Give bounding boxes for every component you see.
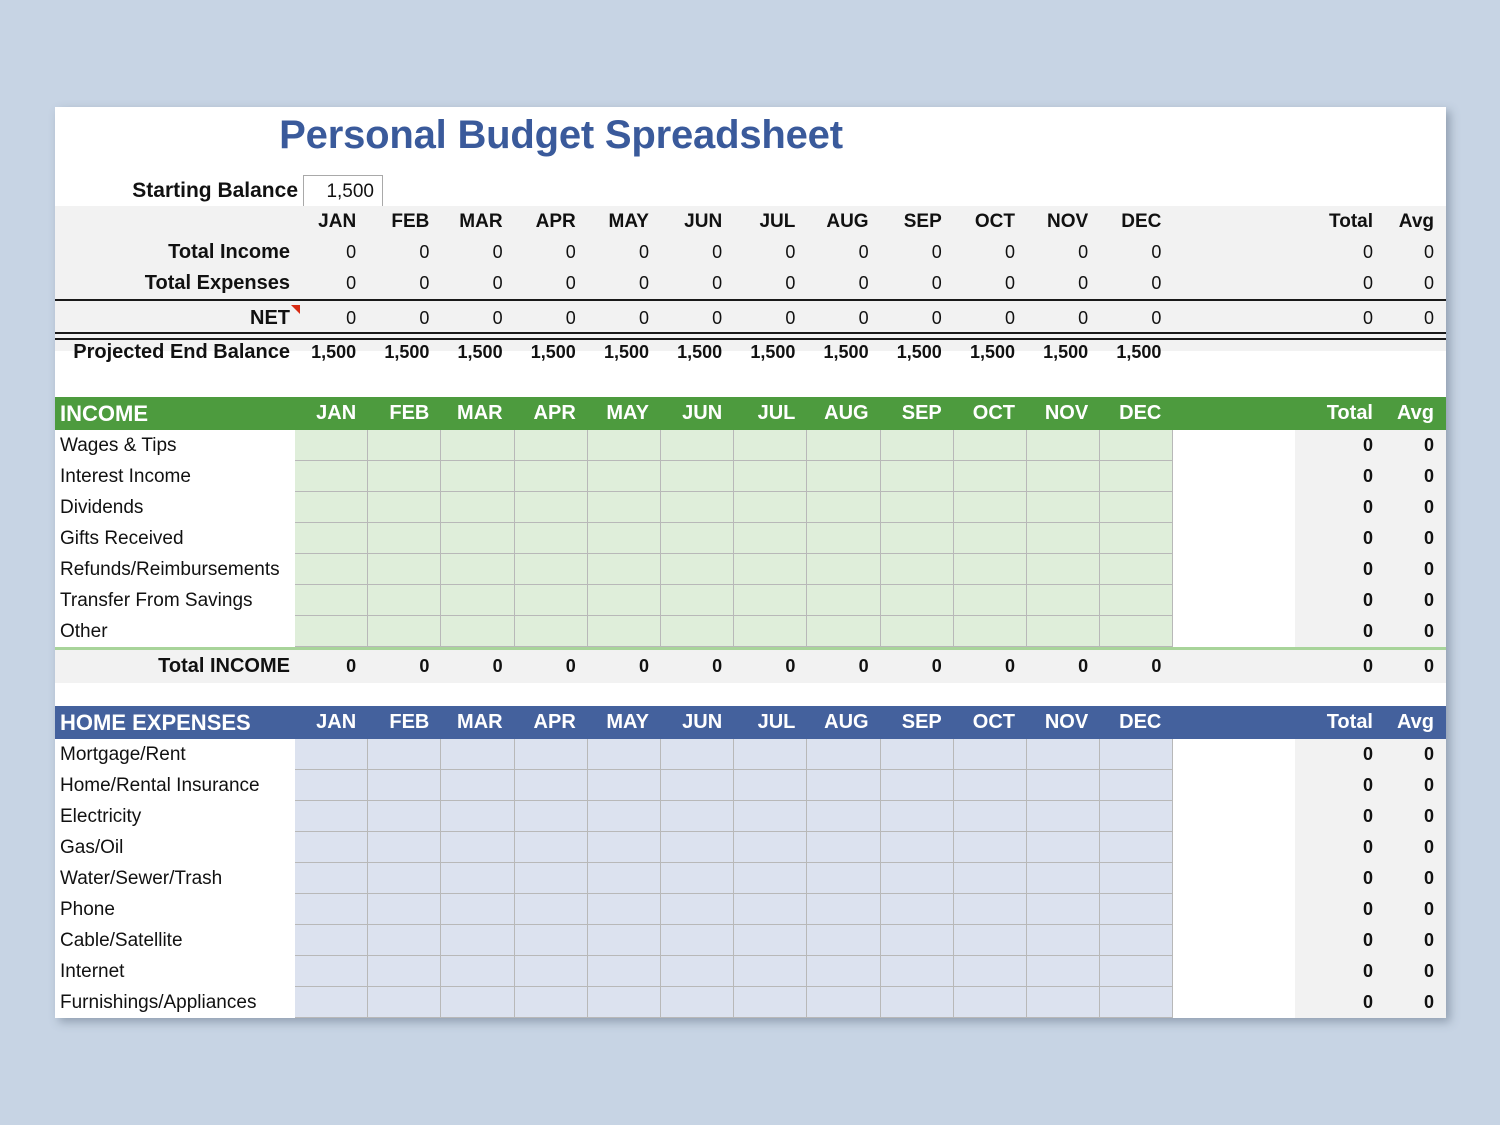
entry-cell-apr[interactable] (515, 523, 588, 554)
starting-balance-input[interactable]: 1,500 (303, 175, 383, 207)
row-label: Gifts Received (55, 523, 295, 554)
entry-cell-sep[interactable] (881, 585, 954, 616)
section-col-header-dec: DEC (1100, 397, 1173, 430)
entry-cell-oct[interactable] (954, 492, 1027, 523)
entry-cell-sep[interactable] (881, 801, 954, 832)
entry-cell-jan[interactable] (295, 523, 368, 554)
entry-cell-oct[interactable] (954, 616, 1027, 647)
entry-cell-jan[interactable] (295, 832, 368, 863)
entry-cell-jul[interactable] (734, 492, 807, 523)
entry-cell-may[interactable] (588, 585, 661, 616)
entry-cell-nov[interactable] (1027, 554, 1100, 585)
row-avg: 0 (1385, 770, 1446, 801)
row-total: 0 (1295, 430, 1385, 461)
entry-cell-aug[interactable] (807, 832, 880, 863)
entry-cell-oct[interactable] (954, 585, 1027, 616)
entry-cell-jun[interactable] (661, 523, 734, 554)
entry-cell-jan[interactable] (295, 956, 368, 987)
entry-cell-may[interactable] (588, 523, 661, 554)
entry-cell-dec[interactable] (1100, 801, 1173, 832)
summary-cell: 0 (515, 268, 588, 299)
entry-cell-jul[interactable] (734, 801, 807, 832)
table-row: Interest Income00 (55, 461, 1446, 492)
table-row: Electricity00 (55, 801, 1446, 832)
summary-col-header-jun: JUN (661, 206, 734, 237)
entry-cell-aug[interactable] (807, 956, 880, 987)
entry-cell-aug[interactable] (807, 585, 880, 616)
entry-cell-jan[interactable] (295, 925, 368, 956)
entry-cell-mar[interactable] (441, 492, 514, 523)
row-label: Transfer From Savings (55, 585, 295, 616)
section-col-header-jun: JUN (661, 706, 734, 739)
entry-cell-may[interactable] (588, 863, 661, 894)
entry-cell-jul[interactable] (734, 430, 807, 461)
section-total-cell: 0 (368, 650, 441, 683)
entry-cell-mar[interactable] (441, 832, 514, 863)
entry-cell-oct[interactable] (954, 770, 1027, 801)
table-row: Refunds/Reimbursements00 (55, 554, 1446, 585)
summary-cell: 0 (588, 268, 661, 299)
section-total-cell-avg: 0 (1385, 650, 1446, 683)
row-total: 0 (1295, 956, 1385, 987)
entry-cell-apr[interactable] (515, 801, 588, 832)
entry-cell-dec[interactable] (1100, 987, 1173, 1018)
entry-cell-mar[interactable] (441, 554, 514, 585)
entry-cell-jun[interactable] (661, 430, 734, 461)
section-col-header-total: Total (1295, 706, 1385, 739)
section-col-header-jul: JUL (734, 706, 807, 739)
entry-cell-oct[interactable] (954, 925, 1027, 956)
entry-cell-feb[interactable] (368, 863, 441, 894)
summary-col-header-jul: JUL (734, 206, 807, 237)
summary-band: JANFEBMARAPRMAYJUNJULAUGSEPOCTNOVDECTota… (55, 206, 1446, 351)
entry-cell-mar[interactable] (441, 863, 514, 894)
entry-cell-feb[interactable] (368, 554, 441, 585)
entry-cell-dec[interactable] (1100, 925, 1173, 956)
entry-cell-mar[interactable] (441, 956, 514, 987)
entry-cell-dec[interactable] (1100, 832, 1173, 863)
entry-cell-aug[interactable] (807, 987, 880, 1018)
starting-balance-value: 1,500 (326, 181, 374, 203)
entry-cell-aug[interactable] (807, 430, 880, 461)
row-avg: 0 (1385, 987, 1446, 1018)
entry-cell-oct[interactable] (954, 739, 1027, 770)
entry-cell-jun[interactable] (661, 863, 734, 894)
row-total: 0 (1295, 894, 1385, 925)
entry-cell-feb[interactable] (368, 492, 441, 523)
entry-cell-mar[interactable] (441, 925, 514, 956)
entry-cell-nov[interactable] (1027, 739, 1100, 770)
row-total: 0 (1295, 523, 1385, 554)
entry-cell-feb[interactable] (368, 832, 441, 863)
entry-cell-dec[interactable] (1100, 523, 1173, 554)
entry-cell-may[interactable] (588, 956, 661, 987)
summary-cell: 0 (954, 237, 1027, 268)
entry-cell-sep[interactable] (881, 739, 954, 770)
entry-cell-jul[interactable] (734, 925, 807, 956)
section-total-cell: 0 (734, 650, 807, 683)
table-row: Dividends00 (55, 492, 1446, 523)
entry-cell-mar[interactable] (441, 894, 514, 925)
entry-cell-jan[interactable] (295, 770, 368, 801)
summary-cell: 0 (295, 237, 368, 268)
entry-cell-jun[interactable] (661, 987, 734, 1018)
entry-cell-sep[interactable] (881, 430, 954, 461)
entry-cell-nov[interactable] (1027, 956, 1100, 987)
entry-cell-oct[interactable] (954, 956, 1027, 987)
entry-cell-mar[interactable] (441, 616, 514, 647)
entry-cell-jul[interactable] (734, 585, 807, 616)
entry-cell-feb[interactable] (368, 430, 441, 461)
entry-cell-jul[interactable] (734, 523, 807, 554)
entry-cell-jul[interactable] (734, 956, 807, 987)
entry-cell-aug[interactable] (807, 801, 880, 832)
entry-cell-jan[interactable] (295, 894, 368, 925)
entry-cell-jan[interactable] (295, 863, 368, 894)
entry-cell-oct[interactable] (954, 801, 1027, 832)
summary-cell: 0 (515, 237, 588, 268)
section-col-header-jan: JAN (295, 397, 368, 430)
summary-cell: 0 (1027, 268, 1100, 299)
entry-cell-jun[interactable] (661, 461, 734, 492)
entry-cell-nov[interactable] (1027, 925, 1100, 956)
entry-cell-may[interactable] (588, 461, 661, 492)
section-col-header-aug: AUG (807, 397, 880, 430)
entry-cell-jun[interactable] (661, 616, 734, 647)
entry-cell-dec[interactable] (1100, 492, 1173, 523)
entry-cell-jun[interactable] (661, 801, 734, 832)
summary-row-total-expenses: Total Expenses00000000000000 (55, 268, 1446, 299)
entry-cell-feb[interactable] (368, 585, 441, 616)
entry-cell-mar[interactable] (441, 987, 514, 1018)
entry-cell-apr[interactable] (515, 832, 588, 863)
entry-cell-oct[interactable] (954, 523, 1027, 554)
section-total-cell: 0 (1100, 650, 1173, 683)
entry-cell-aug[interactable] (807, 616, 880, 647)
summary-col-header-total: Total (1295, 206, 1385, 237)
entry-cell-nov[interactable] (1027, 832, 1100, 863)
entry-cell-dec[interactable] (1100, 894, 1173, 925)
entry-cell-nov[interactable] (1027, 863, 1100, 894)
entry-cell-may[interactable] (588, 770, 661, 801)
entry-cell-nov[interactable] (1027, 616, 1100, 647)
row-avg: 0 (1385, 461, 1446, 492)
summary-cell: 0 (661, 237, 734, 268)
row-avg: 0 (1385, 585, 1446, 616)
entry-cell-jul[interactable] (734, 461, 807, 492)
entry-cell-feb[interactable] (368, 894, 441, 925)
entry-cell-sep[interactable] (881, 554, 954, 585)
section-col-header-aug: AUG (807, 706, 880, 739)
entry-cell-jun[interactable] (661, 925, 734, 956)
summary-cell-avg (1385, 337, 1446, 368)
section-col-header-feb: FEB (368, 397, 441, 430)
entry-cell-jan[interactable] (295, 801, 368, 832)
entry-cell-apr[interactable] (515, 616, 588, 647)
entry-cell-sep[interactable] (881, 925, 954, 956)
entry-cell-feb[interactable] (368, 801, 441, 832)
entry-cell-jul[interactable] (734, 863, 807, 894)
entry-cell-dec[interactable] (1100, 585, 1173, 616)
entry-cell-nov[interactable] (1027, 585, 1100, 616)
section-header-home-expenses: HOME EXPENSESJANFEBMARAPRMAYJUNJULAUGSEP… (55, 706, 1446, 739)
entry-cell-aug[interactable] (807, 770, 880, 801)
entry-cell-apr[interactable] (515, 894, 588, 925)
row-label: Water/Sewer/Trash (55, 863, 295, 894)
section-total-cell: 0 (954, 650, 1027, 683)
entry-cell-feb[interactable] (368, 461, 441, 492)
entry-cell-dec[interactable] (1100, 863, 1173, 894)
entry-cell-may[interactable] (588, 739, 661, 770)
section-col-header-mar: MAR (441, 397, 514, 430)
row-label: Home/Rental Insurance (55, 770, 295, 801)
entry-cell-oct[interactable] (954, 894, 1027, 925)
entry-cell-apr[interactable] (515, 461, 588, 492)
section-col-header-jun: JUN (661, 397, 734, 430)
summary-cell: 0 (1100, 268, 1173, 299)
entry-cell-jan[interactable] (295, 739, 368, 770)
summary-cell: 0 (661, 303, 734, 334)
entry-cell-apr[interactable] (515, 739, 588, 770)
row-total: 0 (1295, 801, 1385, 832)
summary-cell: 0 (734, 303, 807, 334)
entry-cell-nov[interactable] (1027, 461, 1100, 492)
entry-cell-jul[interactable] (734, 739, 807, 770)
row-label: Wages & Tips (55, 430, 295, 461)
entry-cell-sep[interactable] (881, 956, 954, 987)
entry-cell-may[interactable] (588, 430, 661, 461)
section-col-header-may: MAY (588, 397, 661, 430)
summary-row-total-income: Total Income00000000000000 (55, 237, 1446, 268)
entry-cell-dec[interactable] (1100, 616, 1173, 647)
entry-cell-sep[interactable] (881, 616, 954, 647)
summary-cell: 1,500 (441, 337, 514, 368)
summary-col-header-nov: NOV (1027, 206, 1100, 237)
row-avg: 0 (1385, 523, 1446, 554)
row-label: Furnishings/Appliances (55, 987, 295, 1018)
entry-cell-oct[interactable] (954, 554, 1027, 585)
entry-cell-aug[interactable] (807, 492, 880, 523)
summary-cell-total: 0 (1295, 237, 1385, 268)
entry-cell-jul[interactable] (734, 554, 807, 585)
entry-cell-sep[interactable] (881, 987, 954, 1018)
entry-cell-sep[interactable] (881, 461, 954, 492)
summary-cell: 0 (807, 303, 880, 334)
entry-cell-mar[interactable] (441, 801, 514, 832)
section-col-header-dec: DEC (1100, 706, 1173, 739)
row-total: 0 (1295, 863, 1385, 894)
entry-cell-sep[interactable] (881, 894, 954, 925)
row-total: 0 (1295, 616, 1385, 647)
summary-row-label-total-income: Total Income (55, 237, 295, 268)
entry-cell-jan[interactable] (295, 585, 368, 616)
entry-cell-dec[interactable] (1100, 554, 1173, 585)
entry-cell-mar[interactable] (441, 585, 514, 616)
entry-cell-jan[interactable] (295, 430, 368, 461)
entry-cell-feb[interactable] (368, 987, 441, 1018)
entry-cell-feb[interactable] (368, 956, 441, 987)
entry-cell-aug[interactable] (807, 739, 880, 770)
entry-cell-sep[interactable] (881, 770, 954, 801)
entry-cell-jun[interactable] (661, 492, 734, 523)
summary-col-header-aug: AUG (807, 206, 880, 237)
entry-cell-jul[interactable] (734, 987, 807, 1018)
row-label: Interest Income (55, 461, 295, 492)
summary-cell: 0 (441, 268, 514, 299)
summary-cell: 1,500 (881, 337, 954, 368)
summary-cell: 1,500 (1100, 337, 1173, 368)
entry-cell-nov[interactable] (1027, 492, 1100, 523)
summary-cell: 1,500 (954, 337, 1027, 368)
entry-cell-may[interactable] (588, 894, 661, 925)
entry-cell-jun[interactable] (661, 770, 734, 801)
summary-cell: 0 (368, 268, 441, 299)
entry-cell-jul[interactable] (734, 770, 807, 801)
section-title-income: INCOME (60, 397, 148, 430)
entry-cell-apr[interactable] (515, 956, 588, 987)
entry-cell-may[interactable] (588, 832, 661, 863)
entry-cell-nov[interactable] (1027, 770, 1100, 801)
entry-cell-may[interactable] (588, 616, 661, 647)
entry-cell-dec[interactable] (1100, 739, 1173, 770)
row-avg: 0 (1385, 956, 1446, 987)
entry-cell-apr[interactable] (515, 430, 588, 461)
entry-cell-may[interactable] (588, 492, 661, 523)
entry-cell-may[interactable] (588, 987, 661, 1018)
entry-cell-jun[interactable] (661, 832, 734, 863)
row-label: Cable/Satellite (55, 925, 295, 956)
entry-cell-may[interactable] (588, 801, 661, 832)
entry-cell-apr[interactable] (515, 554, 588, 585)
row-total: 0 (1295, 925, 1385, 956)
row-label: Mortgage/Rent (55, 739, 295, 770)
summary-cell: 0 (295, 303, 368, 334)
row-avg: 0 (1385, 492, 1446, 523)
entry-cell-apr[interactable] (515, 863, 588, 894)
entry-cell-may[interactable] (588, 554, 661, 585)
entry-cell-nov[interactable] (1027, 430, 1100, 461)
entry-cell-aug[interactable] (807, 894, 880, 925)
entry-cell-jul[interactable] (734, 616, 807, 647)
summary-cell: 1,500 (807, 337, 880, 368)
entry-cell-sep[interactable] (881, 832, 954, 863)
summary-cell: 0 (588, 237, 661, 268)
entry-cell-sep[interactable] (881, 863, 954, 894)
entry-cell-nov[interactable] (1027, 801, 1100, 832)
entry-cell-aug[interactable] (807, 554, 880, 585)
entry-cell-jul[interactable] (734, 832, 807, 863)
entry-cell-aug[interactable] (807, 863, 880, 894)
entry-cell-jan[interactable] (295, 461, 368, 492)
entry-cell-apr[interactable] (515, 925, 588, 956)
entry-cell-feb[interactable] (368, 770, 441, 801)
summary-cell: 1,500 (515, 337, 588, 368)
summary-cell-total (1295, 337, 1385, 368)
summary-row-label-net: NET (55, 303, 295, 334)
entry-cell-mar[interactable] (441, 430, 514, 461)
section-col-header-nov: NOV (1027, 706, 1100, 739)
entry-cell-nov[interactable] (1027, 894, 1100, 925)
entry-cell-mar[interactable] (441, 739, 514, 770)
entry-cell-oct[interactable] (954, 863, 1027, 894)
entry-cell-dec[interactable] (1100, 430, 1173, 461)
entry-cell-mar[interactable] (441, 461, 514, 492)
entry-cell-aug[interactable] (807, 461, 880, 492)
section-total-label-income: Total INCOME (55, 650, 295, 683)
entry-cell-jan[interactable] (295, 987, 368, 1018)
entry-cell-nov[interactable] (1027, 523, 1100, 554)
entry-cell-feb[interactable] (368, 925, 441, 956)
summary-cell: 0 (661, 268, 734, 299)
summary-cell: 0 (1100, 237, 1173, 268)
entry-cell-sep[interactable] (881, 523, 954, 554)
summary-row-label-projected-end-balance: Projected End Balance (55, 337, 295, 368)
summary-cell-avg: 0 (1385, 268, 1446, 299)
entry-cell-mar[interactable] (441, 770, 514, 801)
row-avg: 0 (1385, 863, 1446, 894)
section-col-header-apr: APR (515, 706, 588, 739)
entry-cell-feb[interactable] (368, 616, 441, 647)
section-col-header-feb: FEB (368, 706, 441, 739)
entry-cell-jan[interactable] (295, 492, 368, 523)
entry-cell-nov[interactable] (1027, 987, 1100, 1018)
entry-cell-mar[interactable] (441, 523, 514, 554)
summary-cell: 0 (515, 303, 588, 334)
entry-cell-may[interactable] (588, 925, 661, 956)
row-avg: 0 (1385, 832, 1446, 863)
section-col-header-mar: MAR (441, 706, 514, 739)
entry-cell-sep[interactable] (881, 492, 954, 523)
entry-cell-jun[interactable] (661, 894, 734, 925)
entry-cell-feb[interactable] (368, 523, 441, 554)
section-col-header-oct: OCT (954, 397, 1027, 430)
row-total: 0 (1295, 832, 1385, 863)
entry-cell-apr[interactable] (515, 492, 588, 523)
summary-cell: 0 (954, 268, 1027, 299)
summary-cell: 0 (1027, 237, 1100, 268)
entry-cell-dec[interactable] (1100, 770, 1173, 801)
starting-balance-label: Starting Balance (75, 179, 298, 203)
entry-cell-dec[interactable] (1100, 461, 1173, 492)
section-col-header-jan: JAN (295, 706, 368, 739)
summary-cell: 1,500 (368, 337, 441, 368)
entry-cell-jun[interactable] (661, 739, 734, 770)
entry-cell-jun[interactable] (661, 956, 734, 987)
entry-cell-apr[interactable] (515, 770, 588, 801)
table-row: Transfer From Savings00 (55, 585, 1446, 616)
section-col-header-may: MAY (588, 706, 661, 739)
entry-cell-oct[interactable] (954, 430, 1027, 461)
entry-cell-apr[interactable] (515, 585, 588, 616)
entry-cell-oct[interactable] (954, 987, 1027, 1018)
entry-cell-jan[interactable] (295, 554, 368, 585)
entry-cell-feb[interactable] (368, 739, 441, 770)
entry-cell-oct[interactable] (954, 461, 1027, 492)
summary-cell: 0 (954, 303, 1027, 334)
entry-cell-aug[interactable] (807, 925, 880, 956)
entry-cell-oct[interactable] (954, 832, 1027, 863)
summary-cell: 0 (1100, 303, 1173, 334)
entry-cell-jun[interactable] (661, 554, 734, 585)
entry-cell-jan[interactable] (295, 616, 368, 647)
entry-cell-jul[interactable] (734, 894, 807, 925)
entry-cell-jun[interactable] (661, 585, 734, 616)
entry-cell-apr[interactable] (515, 987, 588, 1018)
entry-cell-aug[interactable] (807, 523, 880, 554)
section-col-header-total: Total (1295, 397, 1385, 430)
entry-cell-dec[interactable] (1100, 956, 1173, 987)
row-avg: 0 (1385, 894, 1446, 925)
